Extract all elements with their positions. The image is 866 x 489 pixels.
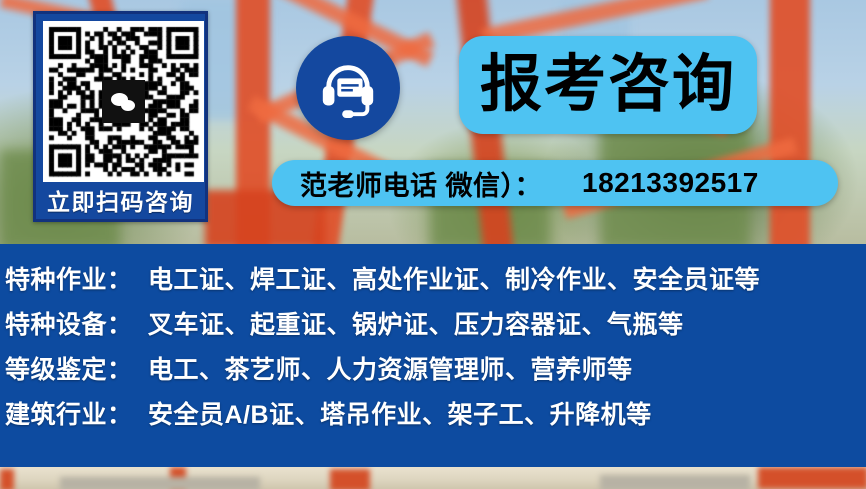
headset-support-icon [296, 36, 400, 140]
category-row-special-equipment: 特种设备 ： 叉车证、起重证、锅炉证、压力容器证、气瓶等 [5, 305, 866, 350]
row-value: 叉车证、起重证、锅炉证、压力容器证、气瓶等 [148, 305, 684, 341]
category-row-special-operations: 特种作业 ： 电工证、焊工证、高处作业证、制冷作业、安全员证等 [5, 260, 866, 305]
row-value: 安全员A/B证、塔吊作业、架子工、升降机等 [148, 395, 652, 431]
row-value: 电工、茶艺师、人力资源管理师、营养师等 [148, 350, 633, 386]
category-row-construction-industry: 建筑行业 ： 安全员A/B证、塔吊作业、架子工、升降机等 [5, 395, 866, 440]
contact-phone-number[interactable]: 18213392517 [582, 167, 759, 199]
category-row-grade-appraisal: 等级鉴定 ： 电工、茶艺师、人力资源管理师、营养师等 [5, 350, 866, 395]
qr-code-card[interactable]: 立即扫码咨询 [33, 11, 208, 222]
bottom-photo-strip [0, 467, 866, 489]
row-colon: ： [107, 305, 132, 341]
course-category-panel: 特种作业 ： 电工证、焊工证、高处作业证、制冷作业、安全员证等 特种设备 ： 叉… [0, 244, 866, 467]
promo-poster: 立即扫码咨询 报考咨询 范老师电话 微信）： 18213392517 特种作业 … [0, 0, 866, 489]
title-pill-consult: 报考咨询 [459, 36, 757, 134]
row-colon: ： [107, 350, 132, 386]
title-text: 报考咨询 [480, 54, 736, 116]
row-label: 等级鉴定 [5, 350, 107, 386]
row-value: 电工证、焊工证、高处作业证、制冷作业、安全员证等 [148, 260, 760, 296]
row-label: 特种设备 [5, 305, 107, 341]
contact-label: 范老师电话 微信）： [300, 164, 542, 203]
qr-code-image[interactable] [43, 21, 204, 182]
qr-caption-label: 立即扫码咨询 [43, 182, 198, 218]
contact-phone-pill[interactable]: 范老师电话 微信）： 18213392517 [272, 160, 838, 206]
row-colon: ： [107, 260, 132, 296]
wechat-icon [102, 80, 145, 123]
row-label: 建筑行业 [5, 395, 107, 431]
row-colon: ： [107, 395, 132, 431]
row-label: 特种作业 [5, 260, 107, 296]
